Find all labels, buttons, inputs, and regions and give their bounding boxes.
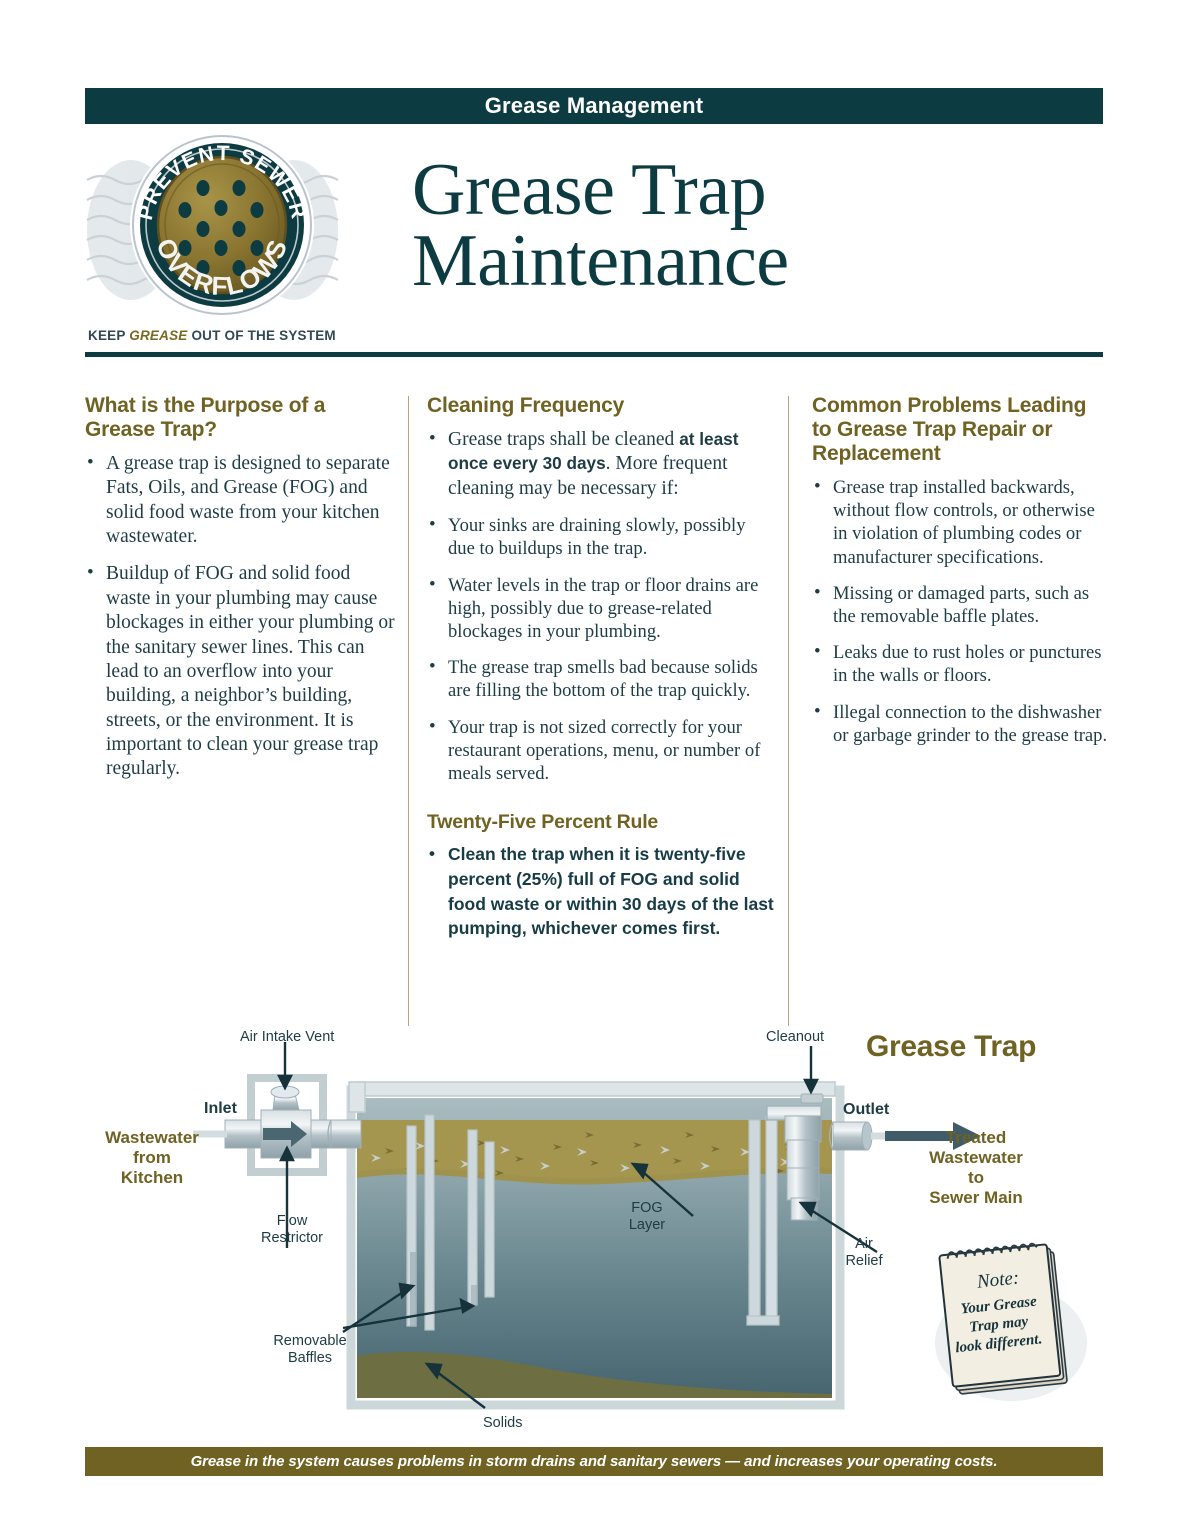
label-wastewater-from-kitchen: Wastewater from Kitchen xyxy=(92,1128,212,1188)
header-divider xyxy=(85,352,1103,357)
twenty-five-percent-rule-heading: Twenty-Five Percent Rule xyxy=(427,811,775,833)
label-air-intake-vent: Air Intake Vent xyxy=(240,1029,334,1046)
label-air-relief-line2: Relief xyxy=(840,1253,888,1270)
footer-banner-text: Grease in the system causes problems in … xyxy=(191,1453,998,1470)
logo-tagline-before: KEEP xyxy=(88,328,129,343)
logo: PREVENT SEWER OVERFLOWS KEEP GREASE OUT … xyxy=(85,126,340,351)
label-cleanout: Cleanout xyxy=(766,1029,824,1046)
label-treated-wastewater: Treated Wastewater to Sewer Main xyxy=(906,1128,1046,1208)
label-inlet: Inlet xyxy=(204,1100,237,1119)
label-removable-baffles: Removable Baffles xyxy=(264,1333,356,1367)
header-banner: Grease Management xyxy=(85,88,1103,124)
label-air-relief-line1: Air xyxy=(840,1236,888,1253)
column-separator-left xyxy=(408,396,409,1026)
list-item: A grease trap is designed to separate Fa… xyxy=(85,452,395,550)
logo-tagline: KEEP GREASE OUT OF THE SYSTEM xyxy=(88,328,336,343)
manhole-cover-icon: PREVENT SEWER OVERFLOWS xyxy=(127,130,317,320)
page-title: Grease Trap Maintenance xyxy=(412,155,1032,297)
inlet-assembly xyxy=(193,1078,361,1172)
label-flow-restrictor: Flow Restrictor xyxy=(246,1213,338,1247)
twenty-five-percent-rule-list: Clean the trap when it is twenty-five pe… xyxy=(427,842,775,941)
page-title-line2: Maintenance xyxy=(412,226,1032,297)
cleanout-port xyxy=(801,1094,823,1103)
list-item: Your trap is not sized correctly for you… xyxy=(427,716,775,786)
list-item: Grease trap installed backwards, without… xyxy=(812,476,1108,569)
list-item: Buildup of FOG and solid food waste in y… xyxy=(85,562,395,781)
notepad-title: Note: xyxy=(975,1267,1020,1292)
label-treated-line4: Sewer Main xyxy=(906,1188,1046,1208)
footer-banner: Grease in the system causes problems in … xyxy=(85,1447,1103,1476)
column-purpose-list: A grease trap is designed to separate Fa… xyxy=(85,452,395,782)
label-removable-baffles-line1: Removable xyxy=(264,1333,356,1350)
column-cleaning-frequency: Cleaning Frequency Grease traps shall be… xyxy=(427,394,775,954)
label-wastewater-line1: Wastewater xyxy=(92,1128,212,1148)
column-common-problems-heading: Common Problems Leading to Grease Trap R… xyxy=(812,394,1108,466)
column-cleaning-frequency-list: Grease traps shall be cleaned at least o… xyxy=(427,428,775,785)
label-flow-restrictor-line1: Flow xyxy=(246,1213,338,1230)
list-item: The grease trap smells bad because solid… xyxy=(427,656,775,702)
list-item: Your sinks are draining slowly, possibly… xyxy=(427,514,775,560)
column-cleaning-frequency-heading: Cleaning Frequency xyxy=(427,394,775,418)
list-item: Missing or damaged parts, such as the re… xyxy=(812,582,1108,628)
label-removable-baffles-line2: Baffles xyxy=(264,1350,356,1367)
column-purpose-heading: What is the Purpose of a Grease Trap? xyxy=(85,394,395,442)
label-air-relief: Air Relief xyxy=(840,1236,888,1270)
label-flow-restrictor-line2: Restrictor xyxy=(246,1230,338,1247)
label-outlet: Outlet xyxy=(843,1101,889,1120)
label-treated-line2: Wastewater xyxy=(906,1148,1046,1168)
column-separator-right xyxy=(788,396,789,1026)
list-item: Grease traps shall be cleaned at least o… xyxy=(427,428,775,501)
label-fog-layer-line2: Layer xyxy=(612,1217,682,1234)
label-treated-line3: to xyxy=(906,1168,1046,1188)
label-solids: Solids xyxy=(483,1415,523,1432)
label-wastewater-line3: Kitchen xyxy=(92,1168,212,1188)
column-common-problems: Common Problems Leading to Grease Trap R… xyxy=(812,394,1108,760)
label-treated-line1: Treated xyxy=(906,1128,1046,1148)
column-purpose: What is the Purpose of a Grease Trap? A … xyxy=(85,394,395,795)
logo-tagline-highlight: GREASE xyxy=(129,328,187,343)
notepad: Note: Your Grease Trap may look differen… xyxy=(925,1238,1105,1413)
logo-tagline-after: OUT OF THE SYSTEM xyxy=(188,328,336,343)
column-common-problems-list: Grease trap installed backwards, without… xyxy=(812,476,1108,747)
bullet-text-pre: Grease traps shall be cleaned xyxy=(448,429,679,450)
list-item: Leaks due to rust holes or punctures in … xyxy=(812,641,1108,687)
list-item: Illegal connection to the dishwasher or … xyxy=(812,701,1108,747)
label-fog-layer: FOG Layer xyxy=(612,1200,682,1234)
label-wastewater-line2: from xyxy=(92,1148,212,1168)
list-item: Clean the trap when it is twenty-five pe… xyxy=(427,842,775,941)
page-title-line1: Grease Trap xyxy=(412,149,766,231)
header-banner-title: Grease Management xyxy=(485,93,704,119)
list-item: Water levels in the trap or floor drains… xyxy=(427,574,775,644)
label-fog-layer-line1: FOG xyxy=(612,1200,682,1217)
